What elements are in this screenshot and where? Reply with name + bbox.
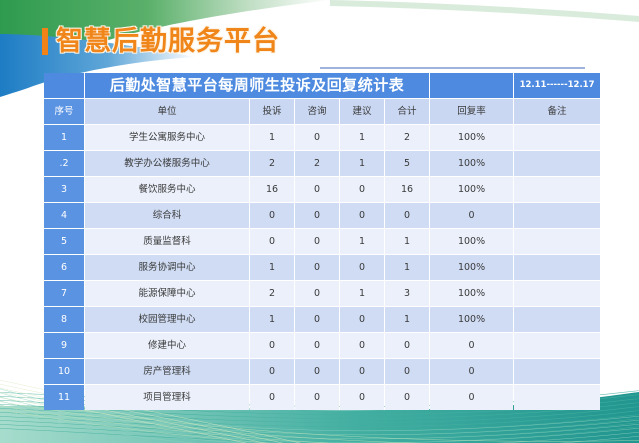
cell-suggestion: 1 bbox=[340, 229, 384, 254]
cell-total: 0 bbox=[385, 203, 429, 228]
cell-seq: 5 bbox=[44, 229, 84, 254]
cell-seq: 4 bbox=[44, 203, 84, 228]
cell-remark bbox=[514, 203, 600, 228]
cell-seq: .2 bbox=[44, 151, 84, 176]
cell-remark bbox=[514, 333, 600, 358]
cell-unit: 能源保障中心 bbox=[85, 281, 249, 306]
column-header-unit: 单位 bbox=[85, 99, 249, 124]
cell-seq: 10 bbox=[44, 359, 84, 384]
cell-suggestion: 1 bbox=[340, 125, 384, 150]
cell-seq: 9 bbox=[44, 333, 84, 358]
cell-complaint: 0 bbox=[250, 229, 294, 254]
slide-header: 智慧后勤服务平台 bbox=[0, 24, 639, 64]
cell-seq: 1 bbox=[44, 125, 84, 150]
cell-total: 16 bbox=[385, 177, 429, 202]
cell-unit: 教学办公楼服务中心 bbox=[85, 151, 249, 176]
cell-unit: 项目管理科 bbox=[85, 385, 249, 410]
cell-reply-rate: 100% bbox=[430, 151, 513, 176]
cell-reply-rate: 100% bbox=[430, 177, 513, 202]
cell-total: 5 bbox=[385, 151, 429, 176]
column-header-suggestion: 建议 bbox=[340, 99, 384, 124]
slide-canvas: 智慧后勤服务平台 后勤处智慧平台每周师生投诉及回复统计表 12.11------… bbox=[0, 0, 639, 443]
cell-suggestion: 1 bbox=[340, 281, 384, 306]
cell-complaint: 1 bbox=[250, 255, 294, 280]
column-header-seq: 序号 bbox=[44, 99, 84, 124]
cell-consult: 0 bbox=[295, 255, 339, 280]
table-row: 4综合科00000 bbox=[44, 203, 600, 228]
cell-remark bbox=[514, 125, 600, 150]
cell-reply-rate: 0 bbox=[430, 385, 513, 410]
cell-remark bbox=[514, 151, 600, 176]
top-green-line bbox=[330, 0, 639, 22]
cell-complaint: 1 bbox=[250, 307, 294, 332]
table-row: 8校园管理中心1001100% bbox=[44, 307, 600, 332]
table-banner-row: 后勤处智慧平台每周师生投诉及回复统计表 12.11------12.17 bbox=[44, 73, 600, 98]
statistics-table-container: 后勤处智慧平台每周师生投诉及回复统计表 12.11------12.17 序号 … bbox=[43, 72, 596, 411]
cell-consult: 0 bbox=[295, 281, 339, 306]
banner-left-blank bbox=[44, 73, 84, 98]
cell-remark bbox=[514, 385, 600, 410]
cell-suggestion: 0 bbox=[340, 333, 384, 358]
cell-remark bbox=[514, 307, 600, 332]
cell-seq: 6 bbox=[44, 255, 84, 280]
table-header-row: 序号 单位 投诉 咨询 建议 合计 回复率 备注 bbox=[44, 99, 600, 124]
cell-complaint: 0 bbox=[250, 359, 294, 384]
cell-reply-rate: 100% bbox=[430, 281, 513, 306]
cell-consult: 0 bbox=[295, 359, 339, 384]
cell-unit: 综合科 bbox=[85, 203, 249, 228]
cell-consult: 0 bbox=[295, 229, 339, 254]
column-header-remark: 备注 bbox=[514, 99, 600, 124]
cell-total: 0 bbox=[385, 359, 429, 384]
column-header-reply-rate: 回复率 bbox=[430, 99, 513, 124]
table-date-range: 12.11------12.17 bbox=[514, 73, 600, 98]
cell-unit: 学生公寓服务中心 bbox=[85, 125, 249, 150]
cell-reply-rate: 100% bbox=[430, 255, 513, 280]
cell-suggestion: 0 bbox=[340, 255, 384, 280]
cell-remark bbox=[514, 177, 600, 202]
table-row: 11项目管理科00000 bbox=[44, 385, 600, 410]
cell-reply-rate: 0 bbox=[430, 203, 513, 228]
cell-seq: 8 bbox=[44, 307, 84, 332]
cell-remark bbox=[514, 359, 600, 384]
cell-unit: 校园管理中心 bbox=[85, 307, 249, 332]
cell-complaint: 0 bbox=[250, 203, 294, 228]
cell-seq: 11 bbox=[44, 385, 84, 410]
cell-suggestion: 0 bbox=[340, 385, 384, 410]
cell-unit: 房产管理科 bbox=[85, 359, 249, 384]
column-header-complaint: 投诉 bbox=[250, 99, 294, 124]
cell-total: 1 bbox=[385, 229, 429, 254]
cell-seq: 7 bbox=[44, 281, 84, 306]
cell-consult: 0 bbox=[295, 125, 339, 150]
cell-consult: 2 bbox=[295, 151, 339, 176]
cell-total: 2 bbox=[385, 125, 429, 150]
cell-complaint: 2 bbox=[250, 151, 294, 176]
cell-reply-rate: 0 bbox=[430, 333, 513, 358]
table-row: 6服务协调中心1001100% bbox=[44, 255, 600, 280]
cell-reply-rate: 100% bbox=[430, 229, 513, 254]
cell-total: 0 bbox=[385, 385, 429, 410]
cell-suggestion: 0 bbox=[340, 307, 384, 332]
statistics-table: 后勤处智慧平台每周师生投诉及回复统计表 12.11------12.17 序号 … bbox=[43, 72, 601, 411]
cell-total: 1 bbox=[385, 255, 429, 280]
table-banner-title: 后勤处智慧平台每周师生投诉及回复统计表 bbox=[85, 73, 429, 98]
cell-consult: 0 bbox=[295, 333, 339, 358]
cell-complaint: 1 bbox=[250, 125, 294, 150]
table-row: .2教学办公楼服务中心2215100% bbox=[44, 151, 600, 176]
table-row: 5质量监督科0011100% bbox=[44, 229, 600, 254]
cell-suggestion: 0 bbox=[340, 177, 384, 202]
cell-complaint: 2 bbox=[250, 281, 294, 306]
column-header-total: 合计 bbox=[385, 99, 429, 124]
cell-remark bbox=[514, 229, 600, 254]
cell-reply-rate: 100% bbox=[430, 307, 513, 332]
cell-complaint: 0 bbox=[250, 333, 294, 358]
column-header-consult: 咨询 bbox=[295, 99, 339, 124]
cell-consult: 0 bbox=[295, 177, 339, 202]
cell-unit: 质量监督科 bbox=[85, 229, 249, 254]
cell-complaint: 16 bbox=[250, 177, 294, 202]
cell-total: 0 bbox=[385, 333, 429, 358]
cell-remark bbox=[514, 281, 600, 306]
cell-suggestion: 0 bbox=[340, 359, 384, 384]
banner-right-blank bbox=[430, 73, 513, 98]
cell-reply-rate: 100% bbox=[430, 125, 513, 150]
cell-consult: 0 bbox=[295, 385, 339, 410]
title-accent-bar bbox=[42, 28, 48, 55]
cell-suggestion: 1 bbox=[340, 151, 384, 176]
cell-consult: 0 bbox=[295, 203, 339, 228]
cell-total: 1 bbox=[385, 307, 429, 332]
cell-suggestion: 0 bbox=[340, 203, 384, 228]
cell-remark bbox=[514, 255, 600, 280]
cell-total: 3 bbox=[385, 281, 429, 306]
cell-consult: 0 bbox=[295, 307, 339, 332]
cell-unit: 修建中心 bbox=[85, 333, 249, 358]
table-row: 3餐饮服务中心160016100% bbox=[44, 177, 600, 202]
page-title: 智慧后勤服务平台 bbox=[56, 24, 280, 60]
cell-reply-rate: 0 bbox=[430, 359, 513, 384]
table-row: 10房产管理科00000 bbox=[44, 359, 600, 384]
cell-complaint: 0 bbox=[250, 385, 294, 410]
cell-unit: 餐饮服务中心 bbox=[85, 177, 249, 202]
table-row: 1学生公寓服务中心1012100% bbox=[44, 125, 600, 150]
title-divider-rule bbox=[320, 67, 585, 69]
cell-unit: 服务协调中心 bbox=[85, 255, 249, 280]
cell-seq: 3 bbox=[44, 177, 84, 202]
table-row: 7能源保障中心2013100% bbox=[44, 281, 600, 306]
table-row: 9修建中心00000 bbox=[44, 333, 600, 358]
